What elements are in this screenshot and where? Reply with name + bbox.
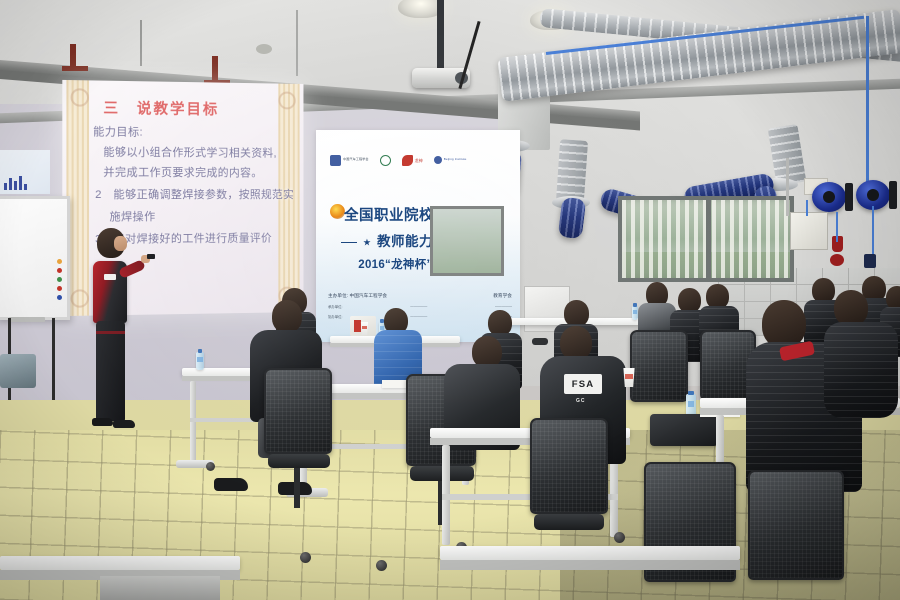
magnet[interactable] [57,259,62,264]
water-bottle [196,352,204,370]
conduit [786,158,789,216]
control-panel-box[interactable] [790,212,828,250]
air-line [836,212,838,242]
beam-bracket [62,66,88,71]
table-leg [190,381,196,463]
slide-ornament [71,88,89,107]
university-logo: Beijing Institute [434,154,467,167]
logo-text: Beijing Institute [444,158,467,162]
sponsor-logo-row: 中国汽车工程学会 龙神 Beijing Institute [330,152,506,168]
shop-equipment [0,354,36,388]
hanger-rod [140,20,142,66]
organizer-line: 主办单位: 中国汽车工程学会 教育学会 [328,293,512,299]
slide-line: 并完成工作页要求完成的内容。 [103,164,262,181]
shoe [214,478,248,491]
valve-handle[interactable] [830,254,844,266]
slide-subtitle: 能力目标: [93,123,143,140]
caster-wheel [206,462,215,471]
caster-wheel [614,532,625,543]
window-left [430,206,504,276]
hose-reel[interactable] [812,182,846,212]
fsa-sub-text: GC [576,398,586,404]
presenter-face [114,236,127,251]
filter-regulator [864,254,876,268]
magnet[interactable] [57,268,62,273]
magnet[interactable] [57,286,62,291]
beam-bracket [212,56,218,82]
shoe [92,418,113,426]
whiteboard-pen-tray [9,317,45,322]
slide-line: 能够以小组合作形式学习相关资料, [103,143,277,160]
slide-line: 2 能够正确调整焊接参数，按照规范实 [95,186,294,202]
eyeglasses [532,338,548,345]
ceiling-vent [256,44,272,54]
cohost-label: 承办单位: [328,304,343,309]
table-top [0,556,240,570]
whiteboard[interactable] [0,196,70,320]
hanger-rod [296,10,298,76]
presenter-trousers [96,321,125,421]
magnet[interactable] [57,277,62,282]
window-mullion [706,200,711,278]
bar-chart-icon [4,176,27,190]
shoe [113,420,135,428]
logo-text: 中国汽车工程学会 [343,158,369,162]
table-edge [440,560,740,570]
air-line [806,200,808,216]
caster-wheel [376,560,387,571]
wall-poster [0,150,50,194]
fsa-patch: FSA [564,374,602,394]
longshen-logo: 龙神 [402,154,423,167]
blue-service-pipe [866,16,869,196]
organizer-name: 中国汽车工程学会 [350,293,388,298]
table-apron [100,576,220,600]
organizer-label: 主办单位: [328,293,348,298]
laptop-bag [650,414,718,446]
classroom-scene: 三 说教学目标 能力目标: 能够以小组合作形式学习相关资料, 并完成工作页要求完… [0,0,900,600]
slide-title: 三 说教学目标 [103,97,282,120]
table-top [440,546,740,560]
presenter-remote[interactable] [147,254,155,259]
organizer-name-2: 教育学会 [493,293,512,299]
slide-line: 施焊操作 [109,208,155,224]
presenter [83,228,141,440]
logo-text: 龙神 [415,158,423,163]
china-sae-logo: 中国汽车工程学会 [330,154,369,167]
projector-mount-pole [437,0,444,70]
window-right [618,196,794,282]
caster-wheel [300,552,311,563]
duct-drop [556,139,588,203]
cosponsor-label: 协办单位: [328,314,343,319]
circle-emblem-logo [380,154,391,167]
cohost-line: 承办单位: —————————— [328,304,512,309]
jacket-logo [104,274,116,280]
magnet[interactable] [57,295,62,300]
